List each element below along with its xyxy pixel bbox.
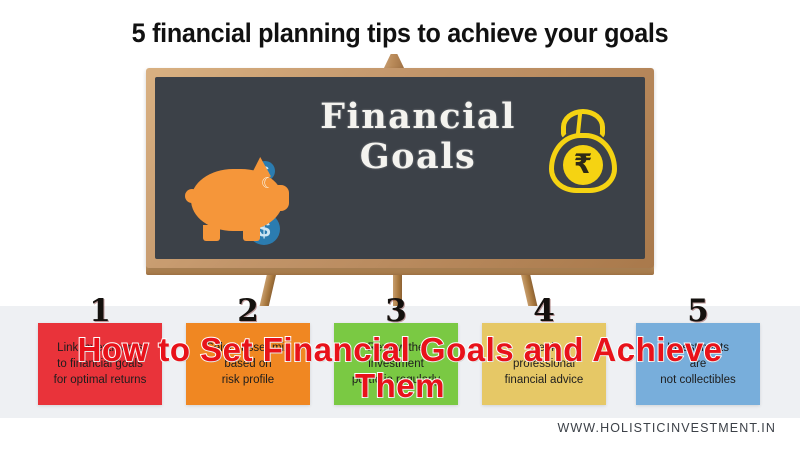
tip-card-1[interactable]: Link investments to financial goals for … [38, 323, 162, 405]
website-url[interactable]: WWW.HOLISTICINVESTMENT.IN [558, 421, 776, 435]
piggy-eye-icon: ☾ [261, 177, 274, 190]
tip-2-line-3: risk profile [222, 374, 274, 386]
tip-4-line-1: Seek [531, 342, 557, 354]
tip-card-1-text: Link investments to financial goals for … [42, 340, 158, 388]
tip-card-3[interactable]: Review the investment portfolio regularl… [334, 323, 458, 405]
tip-1-line-3: for optimal returns [54, 374, 147, 386]
tip-card-4[interactable]: Seek professional financial advice [482, 323, 606, 405]
tip-4-line-2: professional [513, 358, 575, 370]
tip-card-4-text: Seek professional financial advice [486, 340, 602, 388]
piggy-leg-back [243, 225, 260, 241]
tip-3-line-3: portfolio regularly [352, 374, 440, 386]
blackboard-surface: $ $ $ ☾ Financial Goals ₹ [155, 77, 645, 259]
tip-5-line-1: Investments [667, 342, 729, 354]
blackboard-frame: $ $ $ ☾ Financial Goals ₹ [146, 68, 654, 268]
tip-card-5-text: Investments are not collectibles [640, 340, 756, 388]
tip-2-line-2: based on [224, 358, 271, 370]
piggy-leg-front [203, 225, 220, 241]
money-bag-icon: ₹ [547, 109, 619, 195]
chalk-line-1: Financial [320, 96, 516, 137]
tip-2-line-1: Select asset mix [206, 342, 290, 354]
rupee-symbol-icon: ₹ [563, 145, 603, 185]
infographic-canvas: 5 financial planning tips to achieve you… [0, 0, 800, 450]
page-title: 5 financial planning tips to achieve you… [28, 18, 772, 49]
tip-5-line-3: not collectibles [660, 374, 735, 386]
chalk-heading: Financial Goals [303, 97, 533, 178]
tip-5-line-2: are [690, 358, 707, 370]
piggy-bank-icon: $ $ $ ☾ [185, 155, 293, 247]
chalk-line-2: Goals [303, 137, 533, 177]
tip-card-5[interactable]: Investments are not collectibles [636, 323, 760, 405]
tip-3-line-2: investment [368, 358, 424, 370]
tip-1-line-2: to financial goals [57, 358, 143, 370]
tip-3-line-1: Review the [368, 342, 425, 354]
tip-1-line-1: Link investments [57, 342, 143, 354]
tip-4-line-3: financial advice [505, 374, 584, 386]
tip-card-2[interactable]: Select asset mix based on risk profile [186, 323, 310, 405]
tip-card-2-text: Select asset mix based on risk profile [190, 340, 306, 388]
tip-card-3-text: Review the investment portfolio regularl… [338, 340, 454, 388]
